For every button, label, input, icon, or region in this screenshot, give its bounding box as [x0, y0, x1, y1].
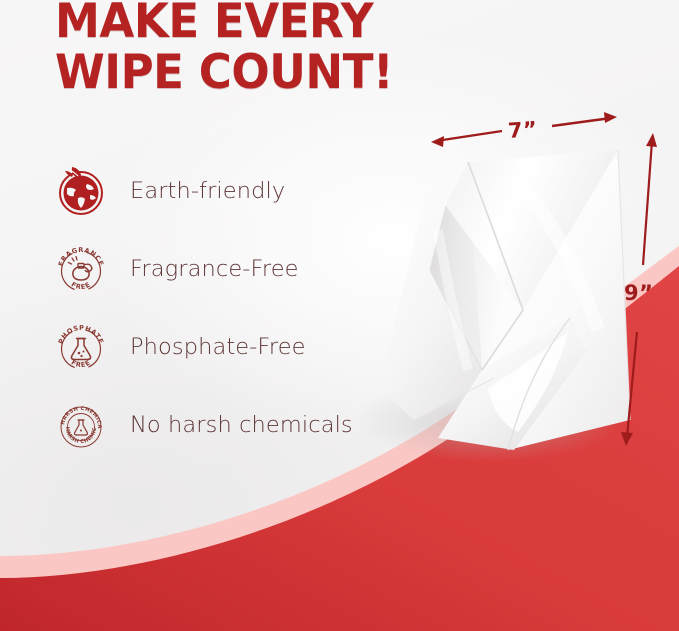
svg-text:FREE: FREE: [70, 280, 92, 291]
feature-label-earth-friendly: Earth-friendly: [130, 178, 285, 204]
globe-leaf-icon: [50, 164, 112, 218]
feature-label-fragrance-free: Fragrance-Free: [130, 256, 299, 282]
no-harsh-chemicals-badge-icon: • NO HARSH CHEMICALS • NO HARSH CHEMICAL…: [50, 398, 112, 452]
fragrance-free-badge-icon: FRAGRANCE FREE: [50, 242, 112, 296]
product-infographic: MAKE EVERY WIPE COUNT!: [0, 0, 679, 631]
feature-label-phosphate-free: Phosphate-Free: [130, 334, 306, 360]
phosphate-free-badge-icon: PHOSPHATE FREE: [50, 320, 112, 374]
page-title: MAKE EVERY WIPE COUNT!: [55, 0, 393, 98]
feature-item-phosphate-free: PHOSPHATE FREE Phosphate-Free: [50, 308, 380, 386]
svg-text:PHOSPHATE: PHOSPHATE: [57, 324, 105, 345]
headline-line-1: MAKE EVERY: [55, 0, 393, 47]
svg-text:NO HARSH CHEMICALS: NO HARSH CHEMICALS: [54, 398, 98, 445]
feature-item-no-harsh-chemicals: • NO HARSH CHEMICALS • NO HARSH CHEMICAL…: [50, 386, 380, 464]
feature-item-earth-friendly: Earth-friendly: [50, 152, 380, 230]
feature-item-fragrance-free: FRAGRANCE FREE Fragrance-Free: [50, 230, 380, 308]
feature-list: Earth-friendly FRAGRANCE FREE: [50, 152, 380, 464]
feature-label-no-harsh-chemicals: No harsh chemicals: [130, 412, 353, 438]
headline-line-2: WIPE COUNT!: [55, 47, 393, 98]
